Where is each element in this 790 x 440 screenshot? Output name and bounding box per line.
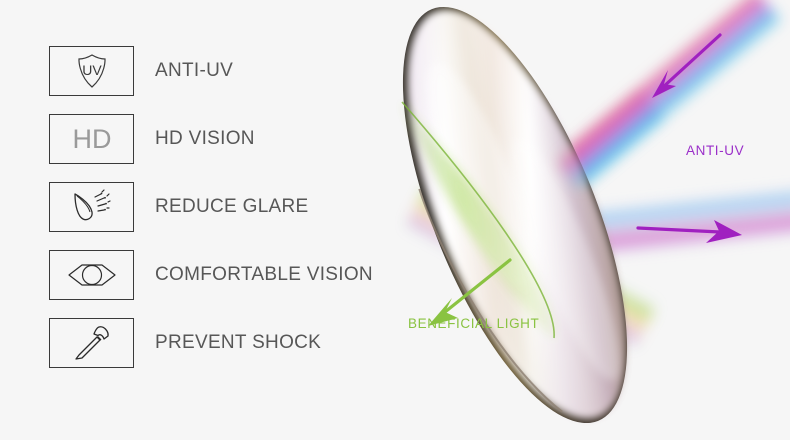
lens-feature-infographic: UV ANTI-UV HD HD VISION <box>0 0 790 440</box>
uv-shield-icon: UV <box>72 51 112 91</box>
feature-list: UV ANTI-UV HD HD VISION <box>49 46 429 386</box>
glare-deflect-icon <box>68 188 116 226</box>
feature-row-reduce-glare: REDUCE GLARE <box>49 182 429 232</box>
feature-row-prevent-shock: PREVENT SHOCK <box>49 318 429 368</box>
beneficial-light-beam-label: BENEFICIAL LIGHT <box>408 316 539 331</box>
feature-label: COMFORTABLE VISION <box>155 264 373 286</box>
feature-row-anti-uv: UV ANTI-UV <box>49 46 429 96</box>
feature-icon-box <box>49 250 134 300</box>
feature-icon-box <box>49 182 134 232</box>
feature-label: PREVENT SHOCK <box>155 332 321 354</box>
feature-label: REDUCE GLARE <box>155 196 309 218</box>
feature-icon-box <box>49 318 134 368</box>
lens-light-illustration: ANTI-UV BENEFICIAL LIGHT <box>390 0 790 440</box>
eye-icon <box>66 260 118 290</box>
anti-uv-beam-label: ANTI-UV <box>686 143 744 158</box>
feature-label: ANTI-UV <box>155 60 233 82</box>
feature-row-comfortable-vision: COMFORTABLE VISION <box>49 250 429 300</box>
feature-icon-box: UV <box>49 46 134 96</box>
feature-label: HD VISION <box>155 128 255 150</box>
feature-icon-box: HD <box>49 114 134 164</box>
hd-text-icon: HD <box>64 122 120 156</box>
hammer-icon <box>70 323 114 363</box>
feature-row-hd-vision: HD HD VISION <box>49 114 429 164</box>
hd-icon-text: HD <box>72 124 111 154</box>
svg-text:UV: UV <box>82 62 102 78</box>
